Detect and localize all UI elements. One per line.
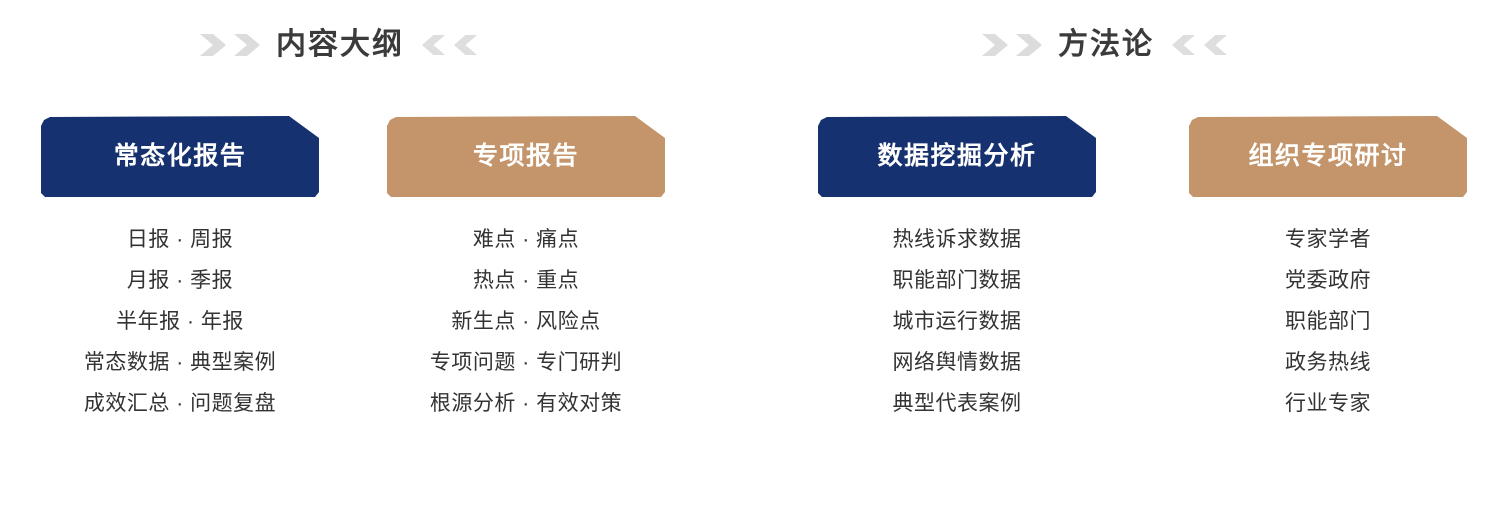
list-item: 典型代表案例 [893,383,1022,424]
list-item: 难点 · 痛点 [473,219,579,260]
list-item: 行业专家 [1285,383,1371,424]
banner-label: 数据挖掘分析 [877,144,1036,169]
column-item-list: 难点 · 痛点 热点 · 重点 新生点 · 风险点 专项问题 · 专门研判 根源… [387,219,665,424]
chevron-right-group [200,34,260,56]
section-heading-content-outline: 内容大纲 [200,22,477,68]
list-item: 半年报 · 年报 [116,301,244,342]
column-item-list: 专家学者 党委政府 职能部门 政务热线 行业专家 [1189,219,1467,424]
column-organize-special-seminar: 组织专项研讨 专家学者 党委政府 职能部门 政务热线 行业专家 [1189,116,1467,424]
list-item: 职能部门数据 [893,260,1022,301]
list-item: 党委政府 [1285,260,1371,301]
column-banner[interactable]: 数据挖掘分析 [818,116,1096,197]
slide-canvas: 内容大纲 方法论 [0,0,1507,517]
chevron-left-group [1172,35,1227,55]
column-regular-report: 常态化报告 日报 · 周报 月报 · 季报 半年报 · 年报 常态数据 · 典型… [41,116,319,424]
list-item: 职能部门 [1285,301,1371,342]
list-item: 专家学者 [1285,219,1371,260]
column-special-report: 专项报告 难点 · 痛点 热点 · 重点 新生点 · 风险点 专项问题 · 专门… [387,116,665,424]
column-item-list: 热线诉求数据 职能部门数据 城市运行数据 网络舆情数据 典型代表案例 [818,219,1096,424]
list-item: 常态数据 · 典型案例 [84,342,276,383]
chevron-right-icon [234,34,260,56]
chevron-right-icon [1016,34,1042,56]
list-item: 专项问题 · 专门研判 [430,342,622,383]
banner-label: 组织专项研讨 [1248,144,1407,169]
list-item: 日报 · 周报 [127,219,233,260]
chevron-right-group [982,34,1042,56]
list-item: 成效汇总 · 问题复盘 [84,383,276,424]
column-banner[interactable]: 专项报告 [387,116,665,197]
chevron-left-icon [422,35,445,55]
list-item: 月报 · 季报 [127,260,233,301]
list-item: 新生点 · 风险点 [451,301,600,342]
list-item: 城市运行数据 [893,301,1022,342]
column-banner[interactable]: 常态化报告 [41,116,319,197]
section-title-text: 内容大纲 [276,30,404,60]
list-item: 热线诉求数据 [893,219,1022,260]
chevron-left-icon [454,35,477,55]
chevron-right-icon [982,34,1008,56]
column-data-mining-analysis: 数据挖掘分析 热线诉求数据 职能部门数据 城市运行数据 网络舆情数据 典型代表案… [818,116,1096,424]
list-item: 网络舆情数据 [893,342,1022,383]
banner-label: 常态化报告 [114,144,247,169]
list-item: 根源分析 · 有效对策 [430,383,622,424]
column-item-list: 日报 · 周报 月报 · 季报 半年报 · 年报 常态数据 · 典型案例 成效汇… [41,219,319,424]
chevron-left-group [422,35,477,55]
chevron-right-icon [200,34,226,56]
section-heading-methodology: 方法论 [982,22,1227,68]
column-banner[interactable]: 组织专项研讨 [1189,116,1467,197]
list-item: 热点 · 重点 [473,260,579,301]
chevron-left-icon [1172,35,1195,55]
banner-label: 专项报告 [473,144,579,169]
section-title-text: 方法论 [1058,30,1154,60]
list-item: 政务热线 [1285,342,1371,383]
chevron-left-icon [1204,35,1227,55]
